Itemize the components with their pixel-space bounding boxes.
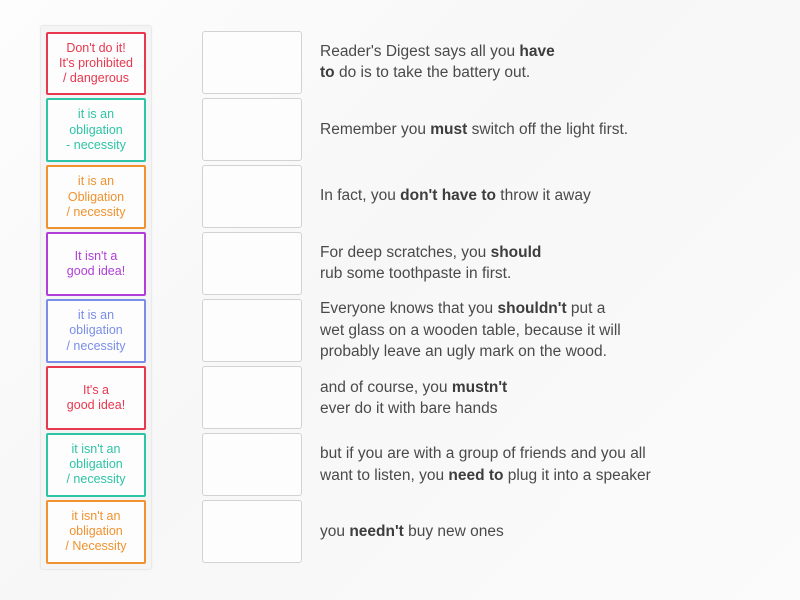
prompt-text: Remember you must switch off the light f… bbox=[320, 98, 740, 161]
prompt-fragment: rub some toothpaste in first. bbox=[320, 265, 511, 282]
draggable-tile[interactable]: Don't do it! It's prohibited / dangerous bbox=[46, 32, 146, 96]
draggable-tile[interactable]: it is an obligation - necessity bbox=[46, 98, 146, 162]
prompt-fragment: Remember you bbox=[320, 121, 430, 138]
prompt-fragment: throw it away bbox=[496, 187, 591, 204]
prompt-sentence: Remember you must switch off the light f… bbox=[320, 119, 628, 140]
prompt-fragment: switch off the light first. bbox=[467, 121, 628, 138]
answer-dropzone[interactable] bbox=[202, 232, 302, 295]
draggable-tile[interactable]: it isn't an obligation / necessity bbox=[46, 433, 146, 497]
prompt-keyword: must bbox=[430, 121, 467, 138]
answer-dropzone[interactable] bbox=[202, 500, 302, 563]
prompt-text: Everyone knows that you shouldn't put a … bbox=[320, 298, 740, 362]
answer-dropzone[interactable] bbox=[202, 31, 302, 94]
prompt-sentence: Reader's Digest says all you have to do … bbox=[320, 41, 555, 84]
prompt-fragment: Reader's Digest says all you bbox=[320, 43, 519, 60]
prompt-fragment: do is to take the battery out. bbox=[335, 64, 531, 81]
prompt-fragment: plug it into a speaker bbox=[504, 467, 651, 484]
draggable-tile[interactable]: It's a good idea! bbox=[46, 366, 146, 430]
draggable-tile[interactable]: it isn't an obligation / Necessity bbox=[46, 500, 146, 564]
prompt-fragment: Everyone knows that you bbox=[320, 300, 498, 317]
prompt-keyword: needn't bbox=[349, 523, 404, 540]
prompt-sentence: and of course, you mustn't ever do it wi… bbox=[320, 377, 507, 420]
answer-dropzone[interactable] bbox=[202, 98, 302, 161]
prompt-text: but if you are with a group of friends a… bbox=[320, 433, 740, 496]
match-up-activity: Don't do it! It's prohibited / dangerous… bbox=[0, 0, 800, 600]
prompt-fragment: you bbox=[320, 523, 349, 540]
prompt-text: you needn't buy new ones bbox=[320, 500, 740, 563]
draggable-tile[interactable]: It isn't a good idea! bbox=[46, 232, 146, 296]
answer-dropzone[interactable] bbox=[202, 299, 302, 362]
prompt-keyword: mustn't bbox=[452, 379, 507, 396]
answer-dropzone[interactable] bbox=[202, 366, 302, 429]
prompt-keyword: shouldn't bbox=[498, 300, 567, 317]
prompt-text: In fact, you don't have to throw it away bbox=[320, 165, 740, 228]
prompt-sentence: For deep scratches, you should rub some … bbox=[320, 242, 541, 285]
prompt-column: Reader's Digest says all you have to do … bbox=[320, 25, 740, 570]
prompt-keyword: don't have to bbox=[400, 187, 496, 204]
prompt-text: and of course, you mustn't ever do it wi… bbox=[320, 367, 740, 430]
prompt-text: Reader's Digest says all you have to do … bbox=[320, 31, 740, 94]
prompt-sentence: you needn't buy new ones bbox=[320, 521, 504, 542]
prompt-fragment: ever do it with bare hands bbox=[320, 400, 498, 417]
prompt-keyword: need to bbox=[448, 467, 503, 484]
draggable-tile[interactable]: it is an obligation / necessity bbox=[46, 299, 146, 363]
prompt-text: For deep scratches, you should rub some … bbox=[320, 232, 740, 295]
activity-board: Don't do it! It's prohibited / dangerous… bbox=[0, 0, 800, 600]
prompt-sentence: but if you are with a group of friends a… bbox=[320, 443, 651, 486]
draggable-tile-tray: Don't do it! It's prohibited / dangerous… bbox=[40, 25, 152, 570]
prompt-fragment: buy new ones bbox=[404, 523, 504, 540]
answer-dropzone[interactable] bbox=[202, 433, 302, 496]
prompt-sentence: In fact, you don't have to throw it away bbox=[320, 185, 591, 206]
prompt-fragment: and of course, you bbox=[320, 379, 452, 396]
dropzone-column bbox=[202, 25, 302, 570]
prompt-sentence: Everyone knows that you shouldn't put a … bbox=[320, 298, 621, 362]
prompt-fragment: In fact, you bbox=[320, 187, 400, 204]
answer-dropzone[interactable] bbox=[202, 165, 302, 228]
prompt-fragment: For deep scratches, you bbox=[320, 244, 491, 261]
draggable-tile[interactable]: it is an Obligation / necessity bbox=[46, 165, 146, 229]
prompt-keyword: should bbox=[491, 244, 542, 261]
